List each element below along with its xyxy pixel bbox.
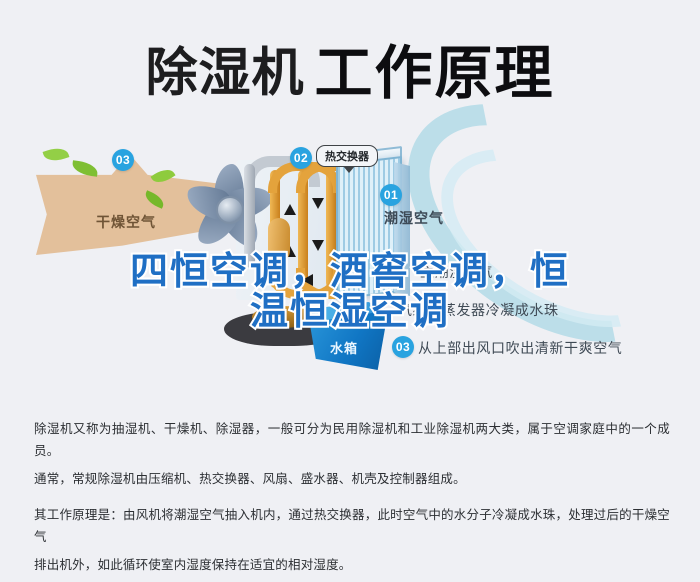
refrigerant-pipe — [244, 164, 255, 268]
page-title: 除湿机工作原理 — [0, 26, 700, 110]
dry-air-label: 干燥空气 — [96, 212, 156, 232]
machine-base-ring — [252, 306, 314, 328]
badge-03-dry-air: 03 — [112, 149, 134, 171]
leaf-icon — [43, 145, 70, 165]
paragraph-2-line-2: 排出机外，如此循环使室内湿度保持在适宜的相对湿度。 — [34, 554, 670, 576]
body-copy: 除湿机又称为抽湿机、干燥机、除湿器，一般可分为民用除湿机和工业除湿机两大类，属于… — [34, 418, 670, 582]
diagram-line-condense: 气经过蒸发器冷凝成水珠 — [398, 300, 559, 320]
page-title-bold: 工作原理 — [315, 41, 555, 106]
fan-hub — [216, 196, 244, 224]
compressor — [268, 218, 290, 262]
heat-exchanger-callout: 热交换器 — [316, 145, 378, 167]
water-tank-label: 水箱 — [330, 338, 358, 357]
flow-arrow-up-icon — [284, 204, 296, 215]
paragraph-2-line-1: 其工作原理是：由风机将潮湿空气抽入机内，通过热交换器，此时空气中的水分子冷凝成水… — [34, 504, 670, 548]
flow-arrow-down-icon — [312, 198, 324, 209]
paragraph-1-line-1: 除湿机又称为抽湿机、干燥机、除湿器，一般可分为民用除湿机和工业除湿机两大类，属于… — [34, 418, 670, 462]
leaf-icon — [71, 160, 99, 176]
badge-02-heat-exchanger: 02 — [290, 147, 312, 169]
diagram-line-outlet: 从上部出风口吹出清新干爽空气 — [392, 338, 622, 358]
diagram-line-humid-intake: 主潮湿空气 — [420, 262, 493, 282]
page-root: 除湿机工作原理 干燥空气 — [0, 0, 700, 566]
heat-exchanger-side — [394, 162, 410, 296]
paragraph-1-line-2: 通常，常规除湿机由压缩机、热交换器、风扇、盛水器、机壳及控制器组成。 — [34, 468, 670, 490]
humid-air-label: 潮湿空气 — [384, 208, 444, 228]
dehumidifier-diagram: 干燥空气 — [0, 120, 700, 395]
flow-arrow-left-icon — [302, 274, 313, 286]
page-title-light: 除湿机 — [145, 45, 304, 103]
heat-exchanger-fins — [336, 156, 402, 300]
badge-01-humid-air: 01 — [380, 184, 402, 206]
flow-arrow-down-icon — [312, 240, 324, 251]
